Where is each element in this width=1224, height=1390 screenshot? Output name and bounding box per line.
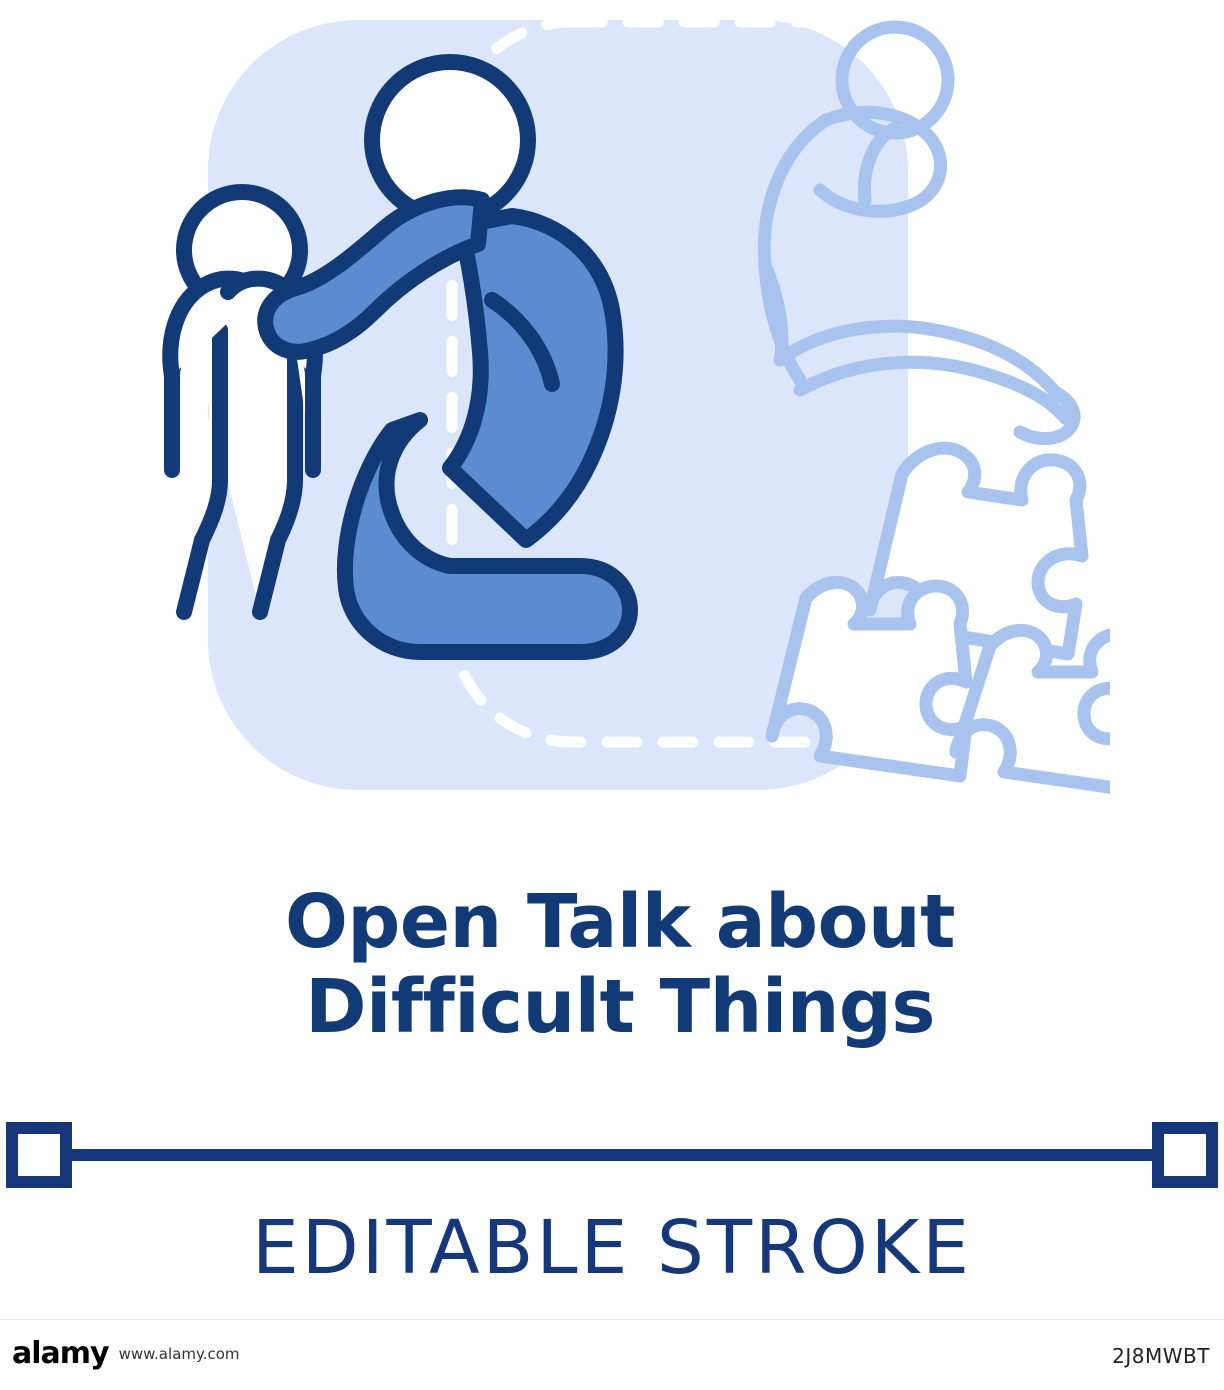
editable-stroke-label: EDITABLE STROKE	[0, 1205, 1224, 1291]
title-line-2: Difficult Things	[150, 965, 1090, 1050]
alamy-url: www.alamy.com	[119, 1345, 240, 1363]
footer-branding: alamy www.alamy.com	[12, 1336, 240, 1371]
concept-title: Open Talk about Difficult Things	[150, 880, 1090, 1050]
puzzle-piece-right	[956, 630, 1110, 788]
concept-illustration	[120, 0, 1110, 840]
stroke-handle-left	[12, 1128, 66, 1182]
alamy-footer: alamy www.alamy.com 2J8MWBT	[0, 1319, 1224, 1390]
alamy-logo: alamy	[12, 1336, 109, 1371]
page-canvas: Open Talk about Difficult Things EDITABL…	[0, 0, 1224, 1390]
title-line-1: Open Talk about	[150, 880, 1090, 965]
image-id: 2J8MWBT	[1112, 1344, 1210, 1368]
stroke-handle-right	[1158, 1128, 1212, 1182]
editable-stroke-indicator	[0, 1110, 1224, 1200]
